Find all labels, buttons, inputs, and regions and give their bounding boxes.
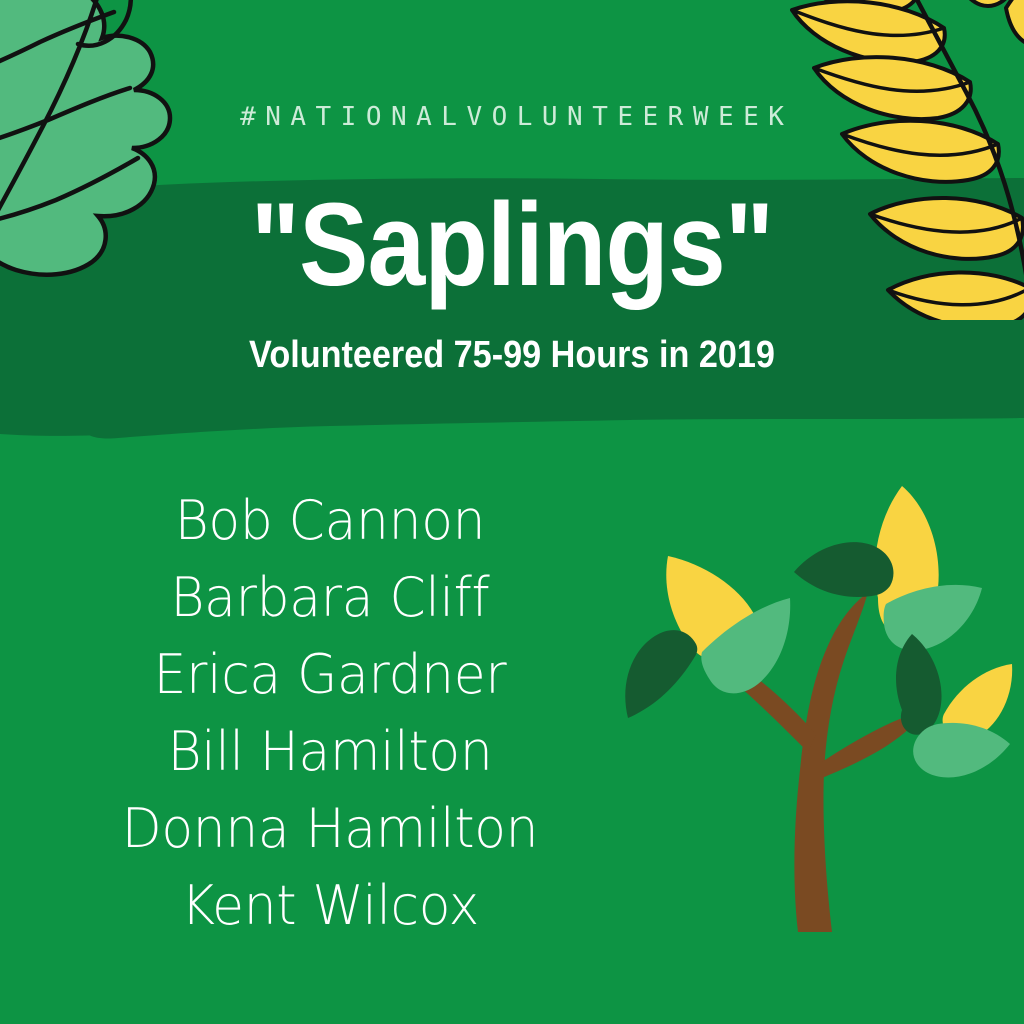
list-item: Bob Cannon [71,482,589,559]
list-item: Barbara Cliff [71,559,589,636]
leaf-yellow-left [666,556,760,662]
sapling-tree-icon [586,462,1024,942]
leaf-lightgreen-top [884,585,982,651]
page-subtitle: Volunteered 75-99 Hours in 2019 [51,335,973,377]
list-item: Bill Hamilton [71,713,589,790]
honoree-name-list: Bob Cannon Barbara Cliff Erica Gardner B… [60,482,600,944]
list-item: Donna Hamilton [71,790,589,867]
list-item: Erica Gardner [71,636,589,713]
leaf-yellow-right [943,664,1013,740]
leaf-yellow-top [875,486,939,634]
leaf-lightgreen-right [913,723,1010,778]
page-title: "Saplings" [61,182,962,309]
list-item: Kent Wilcox [71,867,589,944]
leaf-lightgreen-left [701,598,790,693]
leaf-darkgreen-left [625,630,697,718]
volunteer-recognition-poster: #NATIONALVOLUNTEERWEEK "Saplings" Volunt… [0,0,1024,1024]
hashtag-text: #NATIONALVOLUNTEERWEEK [0,104,1024,130]
leaf-darkgreen-top [794,542,893,597]
leaf-darkgreen-right [896,634,942,735]
